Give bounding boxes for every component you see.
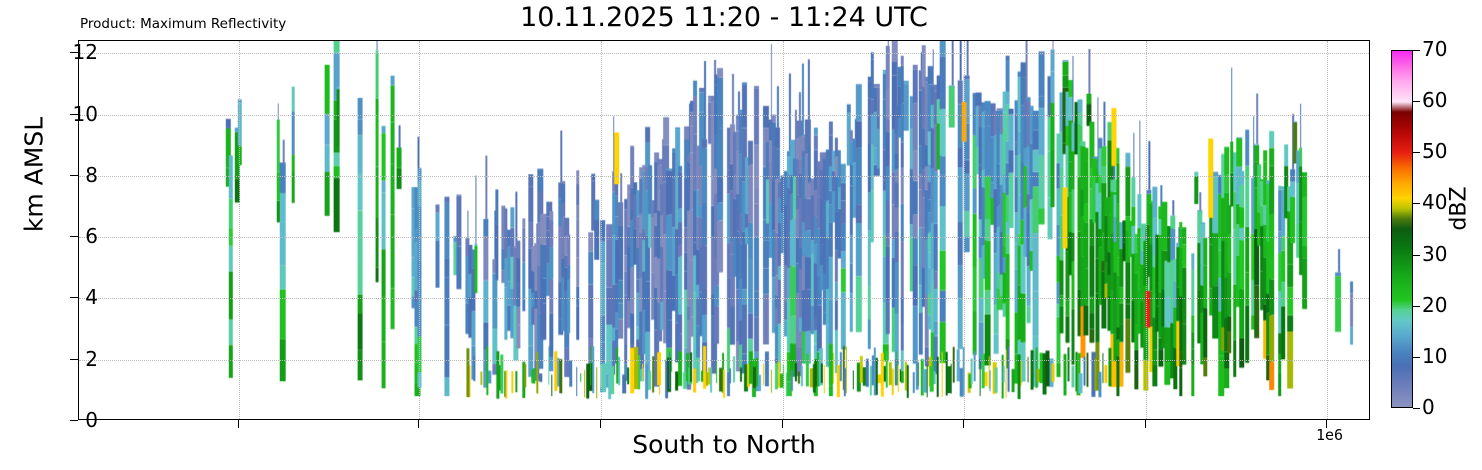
x-tick-mark	[418, 420, 419, 428]
colorbar-tick-mark	[1413, 101, 1420, 102]
colorbar-tick-label: 60	[1422, 90, 1447, 110]
colorbar-tick-label: 30	[1422, 244, 1447, 264]
colorbar-tick-mark	[1413, 408, 1420, 409]
x-tick-mark	[782, 420, 783, 428]
x-tick-mark	[963, 420, 964, 428]
colorbar-tick-mark	[1413, 203, 1420, 204]
colorbar-tick-mark	[1413, 50, 1420, 51]
colorbar[interactable]	[1391, 50, 1413, 408]
x-tick-mark	[600, 420, 601, 428]
colorbar-tick-mark	[1413, 255, 1420, 256]
colorbar-tick-label: 40	[1422, 192, 1447, 212]
y-axis-label: km AMSL	[20, 45, 49, 305]
colorbar-tick-label: 10	[1422, 346, 1447, 366]
x-tick-mark	[238, 420, 239, 428]
x-tick-mark	[1145, 420, 1146, 428]
y-tick-label: 12	[52, 42, 98, 62]
colorbar-gradient	[1391, 50, 1413, 408]
radar-heatmap-canvas	[79, 41, 1369, 419]
colorbar-unit-label: dBZ	[1447, 149, 1472, 269]
colorbar-tick-label: 0	[1422, 397, 1435, 417]
colorbar-tick-label: 20	[1422, 295, 1447, 315]
y-tick-label: 10	[52, 104, 98, 124]
colorbar-tick-mark	[1413, 306, 1420, 307]
y-tick-label: 6	[52, 226, 98, 246]
radar-cross-section-figure: 10.11.2025 11:20 - 11:24 UTC Product: Ma…	[0, 0, 1482, 470]
y-tick-label: 2	[52, 349, 98, 369]
colorbar-tick-mark	[1413, 152, 1420, 153]
x-axis-offset-text: 1e6	[1316, 426, 1343, 444]
colorbar-tick-label: 70	[1422, 39, 1447, 59]
colorbar-tick-mark	[1413, 357, 1420, 358]
product-label: Product: Maximum Reflectivity	[80, 16, 286, 32]
colorbar-tick-label: 50	[1422, 141, 1447, 161]
x-axis-label: South to North	[78, 430, 1370, 459]
y-tick-label: 8	[52, 165, 98, 185]
y-tick-label: 0	[52, 410, 98, 430]
y-tick-label: 4	[52, 287, 98, 307]
plot-area[interactable]	[78, 40, 1370, 420]
